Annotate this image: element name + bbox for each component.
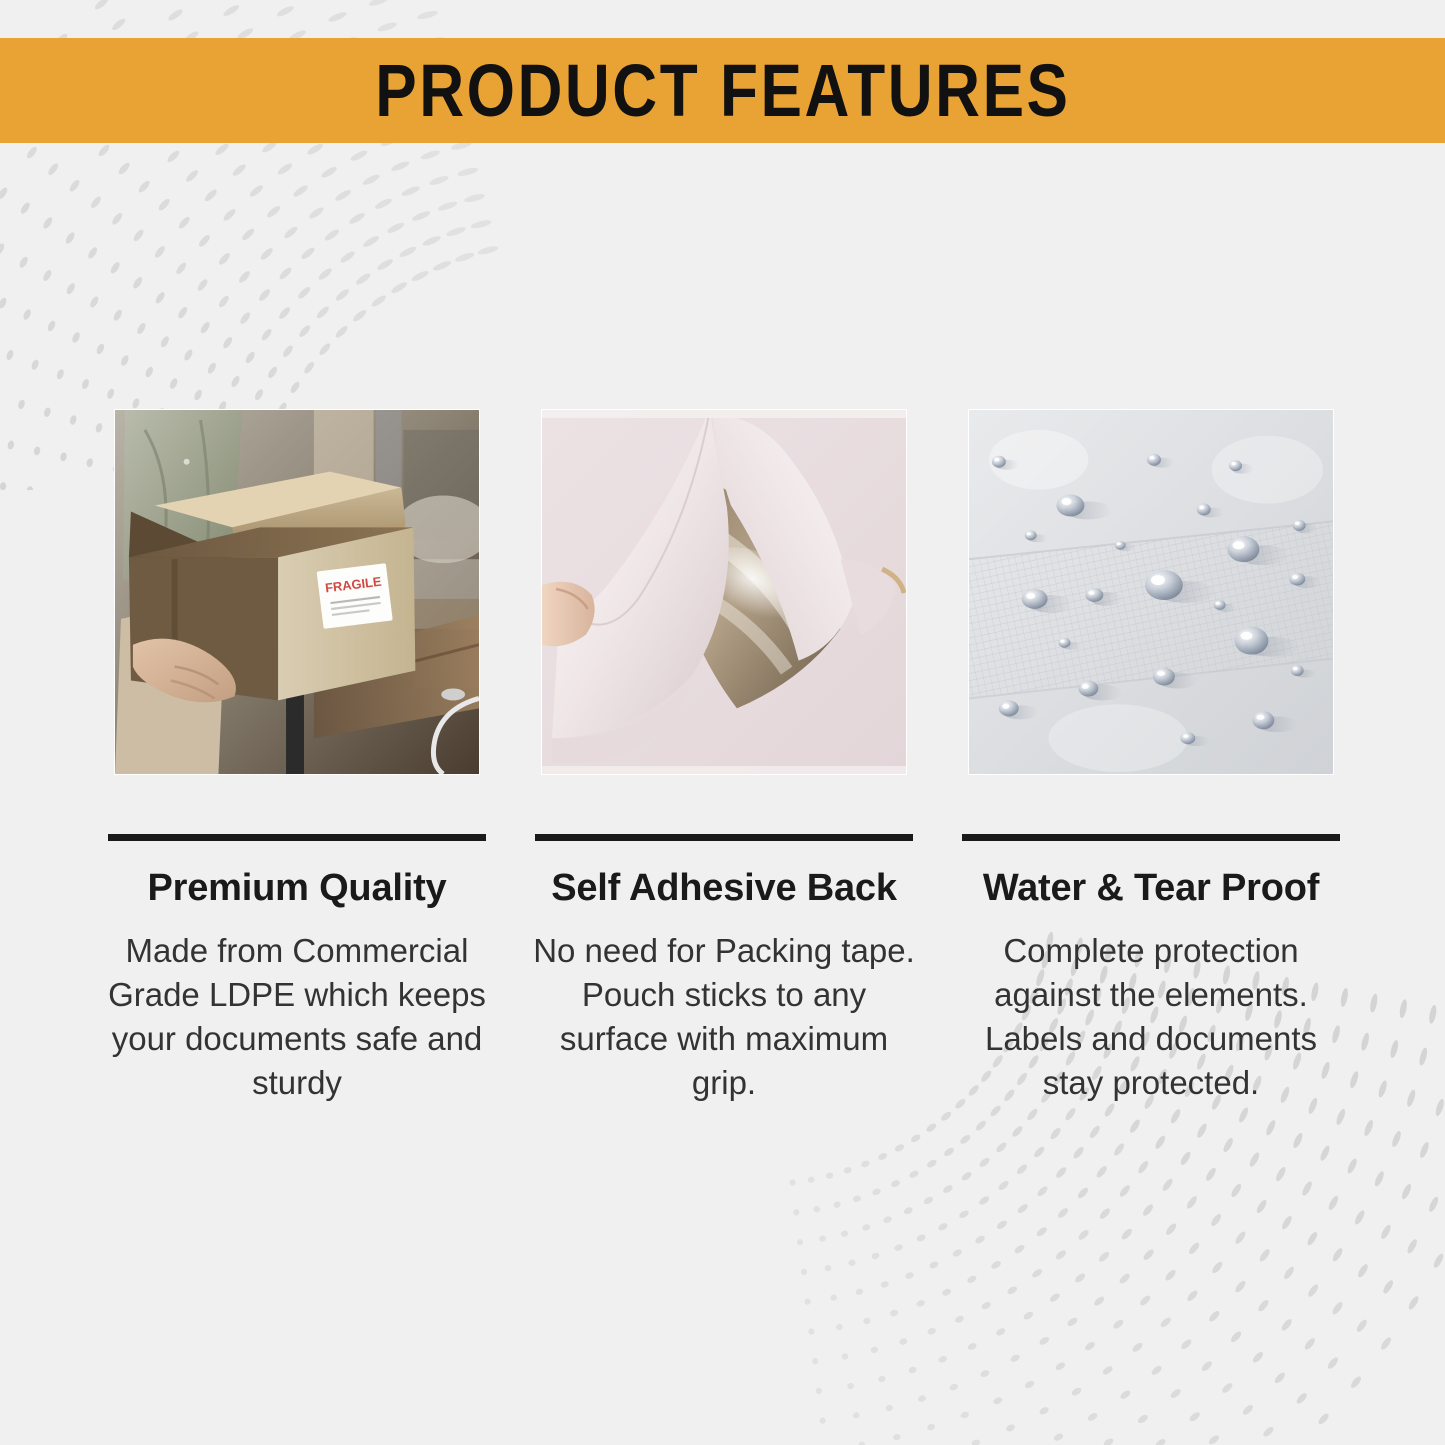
feature-column-water-tear-proof: Water & Tear Proof Complete protection a…	[962, 409, 1340, 1105]
divider-rule	[962, 834, 1340, 841]
feature-heading: Premium Quality	[148, 868, 447, 908]
feature-image-self-adhesive-back	[541, 409, 907, 775]
feature-column-self-adhesive-back: Self Adhesive Back No need for Packing t…	[535, 409, 913, 1105]
feature-image-premium-quality: FRAGILE	[114, 409, 480, 775]
page-title: PRODUCT FEATURES	[375, 54, 1070, 128]
feature-image-water-tear-proof	[968, 409, 1334, 775]
divider-rule	[535, 834, 913, 841]
feature-body: No need for Packing tape. Pouch sticks t…	[524, 929, 924, 1105]
infographic-canvas: PRODUCT FEATURES	[0, 0, 1445, 1445]
feature-column-premium-quality: FRAGILE Premium Quality Made from Comm	[108, 409, 486, 1105]
feature-columns: FRAGILE Premium Quality Made from Comm	[108, 409, 1340, 1105]
feature-heading: Self Adhesive Back	[551, 868, 897, 908]
feature-heading: Water & Tear Proof	[983, 868, 1319, 908]
feature-body: Complete protection against the elements…	[965, 929, 1337, 1105]
banner: PRODUCT FEATURES	[0, 38, 1445, 143]
divider-rule	[108, 834, 486, 841]
feature-body: Made from Commercial Grade LDPE which ke…	[100, 929, 494, 1105]
